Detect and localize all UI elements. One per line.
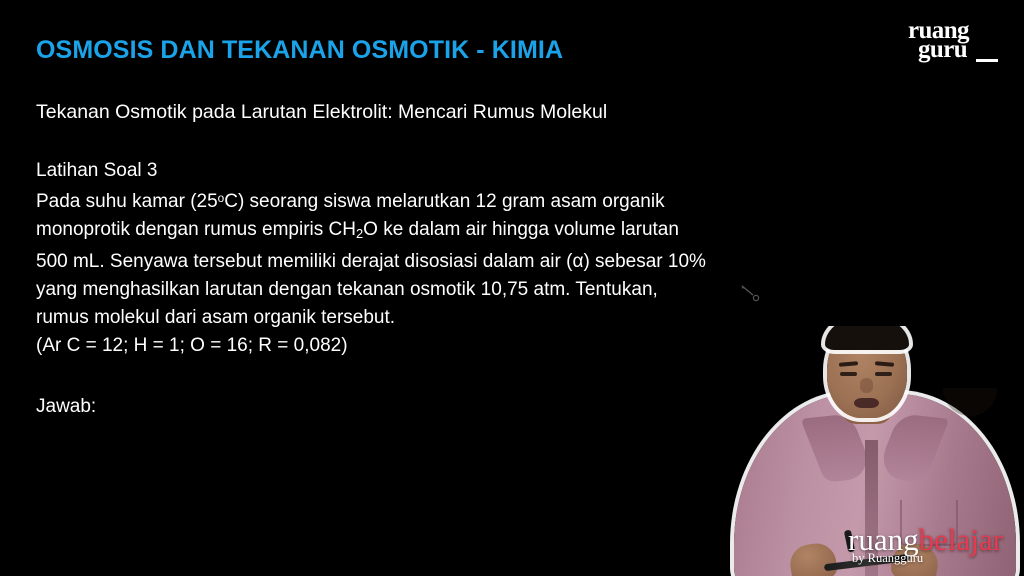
exercise-label: Latihan Soal 3 [36, 157, 836, 185]
presenter-mouth [854, 398, 879, 408]
presenter-hair [825, 326, 909, 350]
presenter-collar-right [874, 413, 949, 482]
ruangguru-logo: ruang guru [906, 20, 1002, 70]
answer-label: Jawab: [36, 396, 96, 418]
presenter-shirt-pocket [900, 500, 958, 546]
question-line-3: 500 mL. Senyawa tersebut memiliki deraja… [36, 248, 836, 276]
slide-subtitle: Tekanan Osmotik pada Larutan Elektrolit:… [36, 101, 607, 124]
presenter-video-cutout [724, 326, 1024, 576]
question-line-1: Pada suhu kamar (25oC) seorang siswa mel… [36, 185, 836, 216]
question-line-2: monoprotik dengan rumus empiris CH2O ke … [36, 216, 836, 248]
question-line-4: yang menghasilkan larutan dengan tekanan… [36, 276, 836, 304]
slide-canvas: OSMOSIS DAN TEKANAN OSMOTIK - KIMIA Teka… [0, 0, 1024, 576]
question-lines: Pada suhu kamar (25oC) seorang siswa mel… [36, 185, 836, 360]
logo-underscore-icon [976, 59, 998, 62]
presenter-lapel-mic [844, 530, 855, 553]
presenter-eye-right [875, 372, 892, 376]
presenter-nose [860, 378, 873, 393]
presenter-shirt-placket [865, 440, 878, 576]
logo-line-2: guru [918, 37, 967, 62]
question-line-6: (Ar C = 12; H = 1; O = 16; R = 0,082) [36, 332, 836, 360]
pen-cursor-icon [740, 283, 762, 303]
question-line-5: rumus molekul dari asam organik tersebut… [36, 304, 836, 332]
question-body: Latihan Soal 3 Pada suhu kamar (25oC) se… [36, 157, 836, 360]
page-title: OSMOSIS DAN TEKANAN OSMOTIK - KIMIA [36, 36, 563, 65]
presenter-eye-left [840, 372, 857, 376]
